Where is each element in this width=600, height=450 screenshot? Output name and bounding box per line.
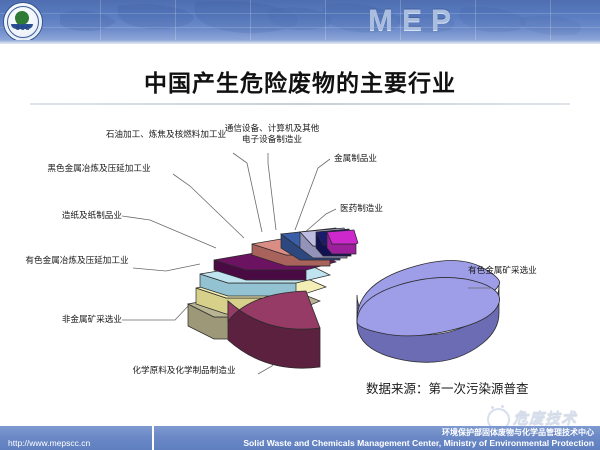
label-chemical: 化学原料及化学制品制造业 xyxy=(110,366,258,377)
title-divider xyxy=(30,103,570,105)
header-banner: MEP SCC xyxy=(0,0,600,40)
banner-grid-line xyxy=(0,13,600,14)
slide-canvas: MEP SCC 中国产生危险废物的主要行业 xyxy=(0,0,600,450)
banner-grid-line xyxy=(325,0,326,40)
banner-grid-line xyxy=(100,0,101,40)
pie-chart-graphic xyxy=(0,108,600,398)
label-petro: 石油加工、炼焦及核燃料加工业 xyxy=(92,130,240,141)
footer-divider xyxy=(152,426,154,450)
label-ferrous-smelting: 黑色金属冶炼及压延加工业 xyxy=(24,164,174,175)
footer-url[interactable]: http://www.mepscc.cn xyxy=(8,438,90,448)
header-underline xyxy=(0,40,600,44)
label-metal-products: 金属制品业 xyxy=(334,154,454,165)
banner-grid-line xyxy=(0,27,600,28)
label-nonferrous-ore: 有色金属矿采选业 xyxy=(468,266,592,277)
watermark-dot xyxy=(501,405,504,408)
page-title: 中国产生危险废物的主要行业 xyxy=(0,64,600,98)
mep-wordmark: MEP xyxy=(368,4,460,38)
banner-grid-line xyxy=(175,0,176,40)
label-paper: 造纸及纸制品业 xyxy=(22,211,122,222)
slice-top-other xyxy=(327,230,358,244)
banner-grid-line xyxy=(550,0,551,40)
label-communications: 通信设备、计算机及其他电子设备制造业 xyxy=(222,124,322,146)
footer-org-cn: 环境保护部固体废物与化学品管理技术中心 xyxy=(442,427,594,438)
banner-grid-line xyxy=(250,0,251,40)
label-nonferrous-smelting: 有色金属冶炼及压延加工业 xyxy=(18,256,136,267)
footer-bar: http://www.mepscc.cn 环境保护部固体废物与化学品管理技术中心… xyxy=(0,426,600,450)
banner-grid-line xyxy=(475,0,476,40)
data-source-note: 数据来源：第一次污染源普查 xyxy=(366,378,529,397)
watermark-text: 危废技术 xyxy=(513,407,577,428)
logo-scc-text: SCC xyxy=(4,26,42,32)
scc-logo-icon: SCC xyxy=(3,2,43,40)
label-nonmetal-mining: 非金属矿采选业 xyxy=(18,315,122,326)
world-map-graphic xyxy=(0,0,600,40)
label-pharma: 医药制造业 xyxy=(340,204,450,215)
pie-chart: 石油加工、炼焦及核燃料加工业 通信设备、计算机及其他电子设备制造业 黑色金属冶炼… xyxy=(0,108,600,398)
footer-org-en: Solid Waste and Chemicals Management Cen… xyxy=(243,438,594,448)
watermark-dot xyxy=(491,406,494,409)
